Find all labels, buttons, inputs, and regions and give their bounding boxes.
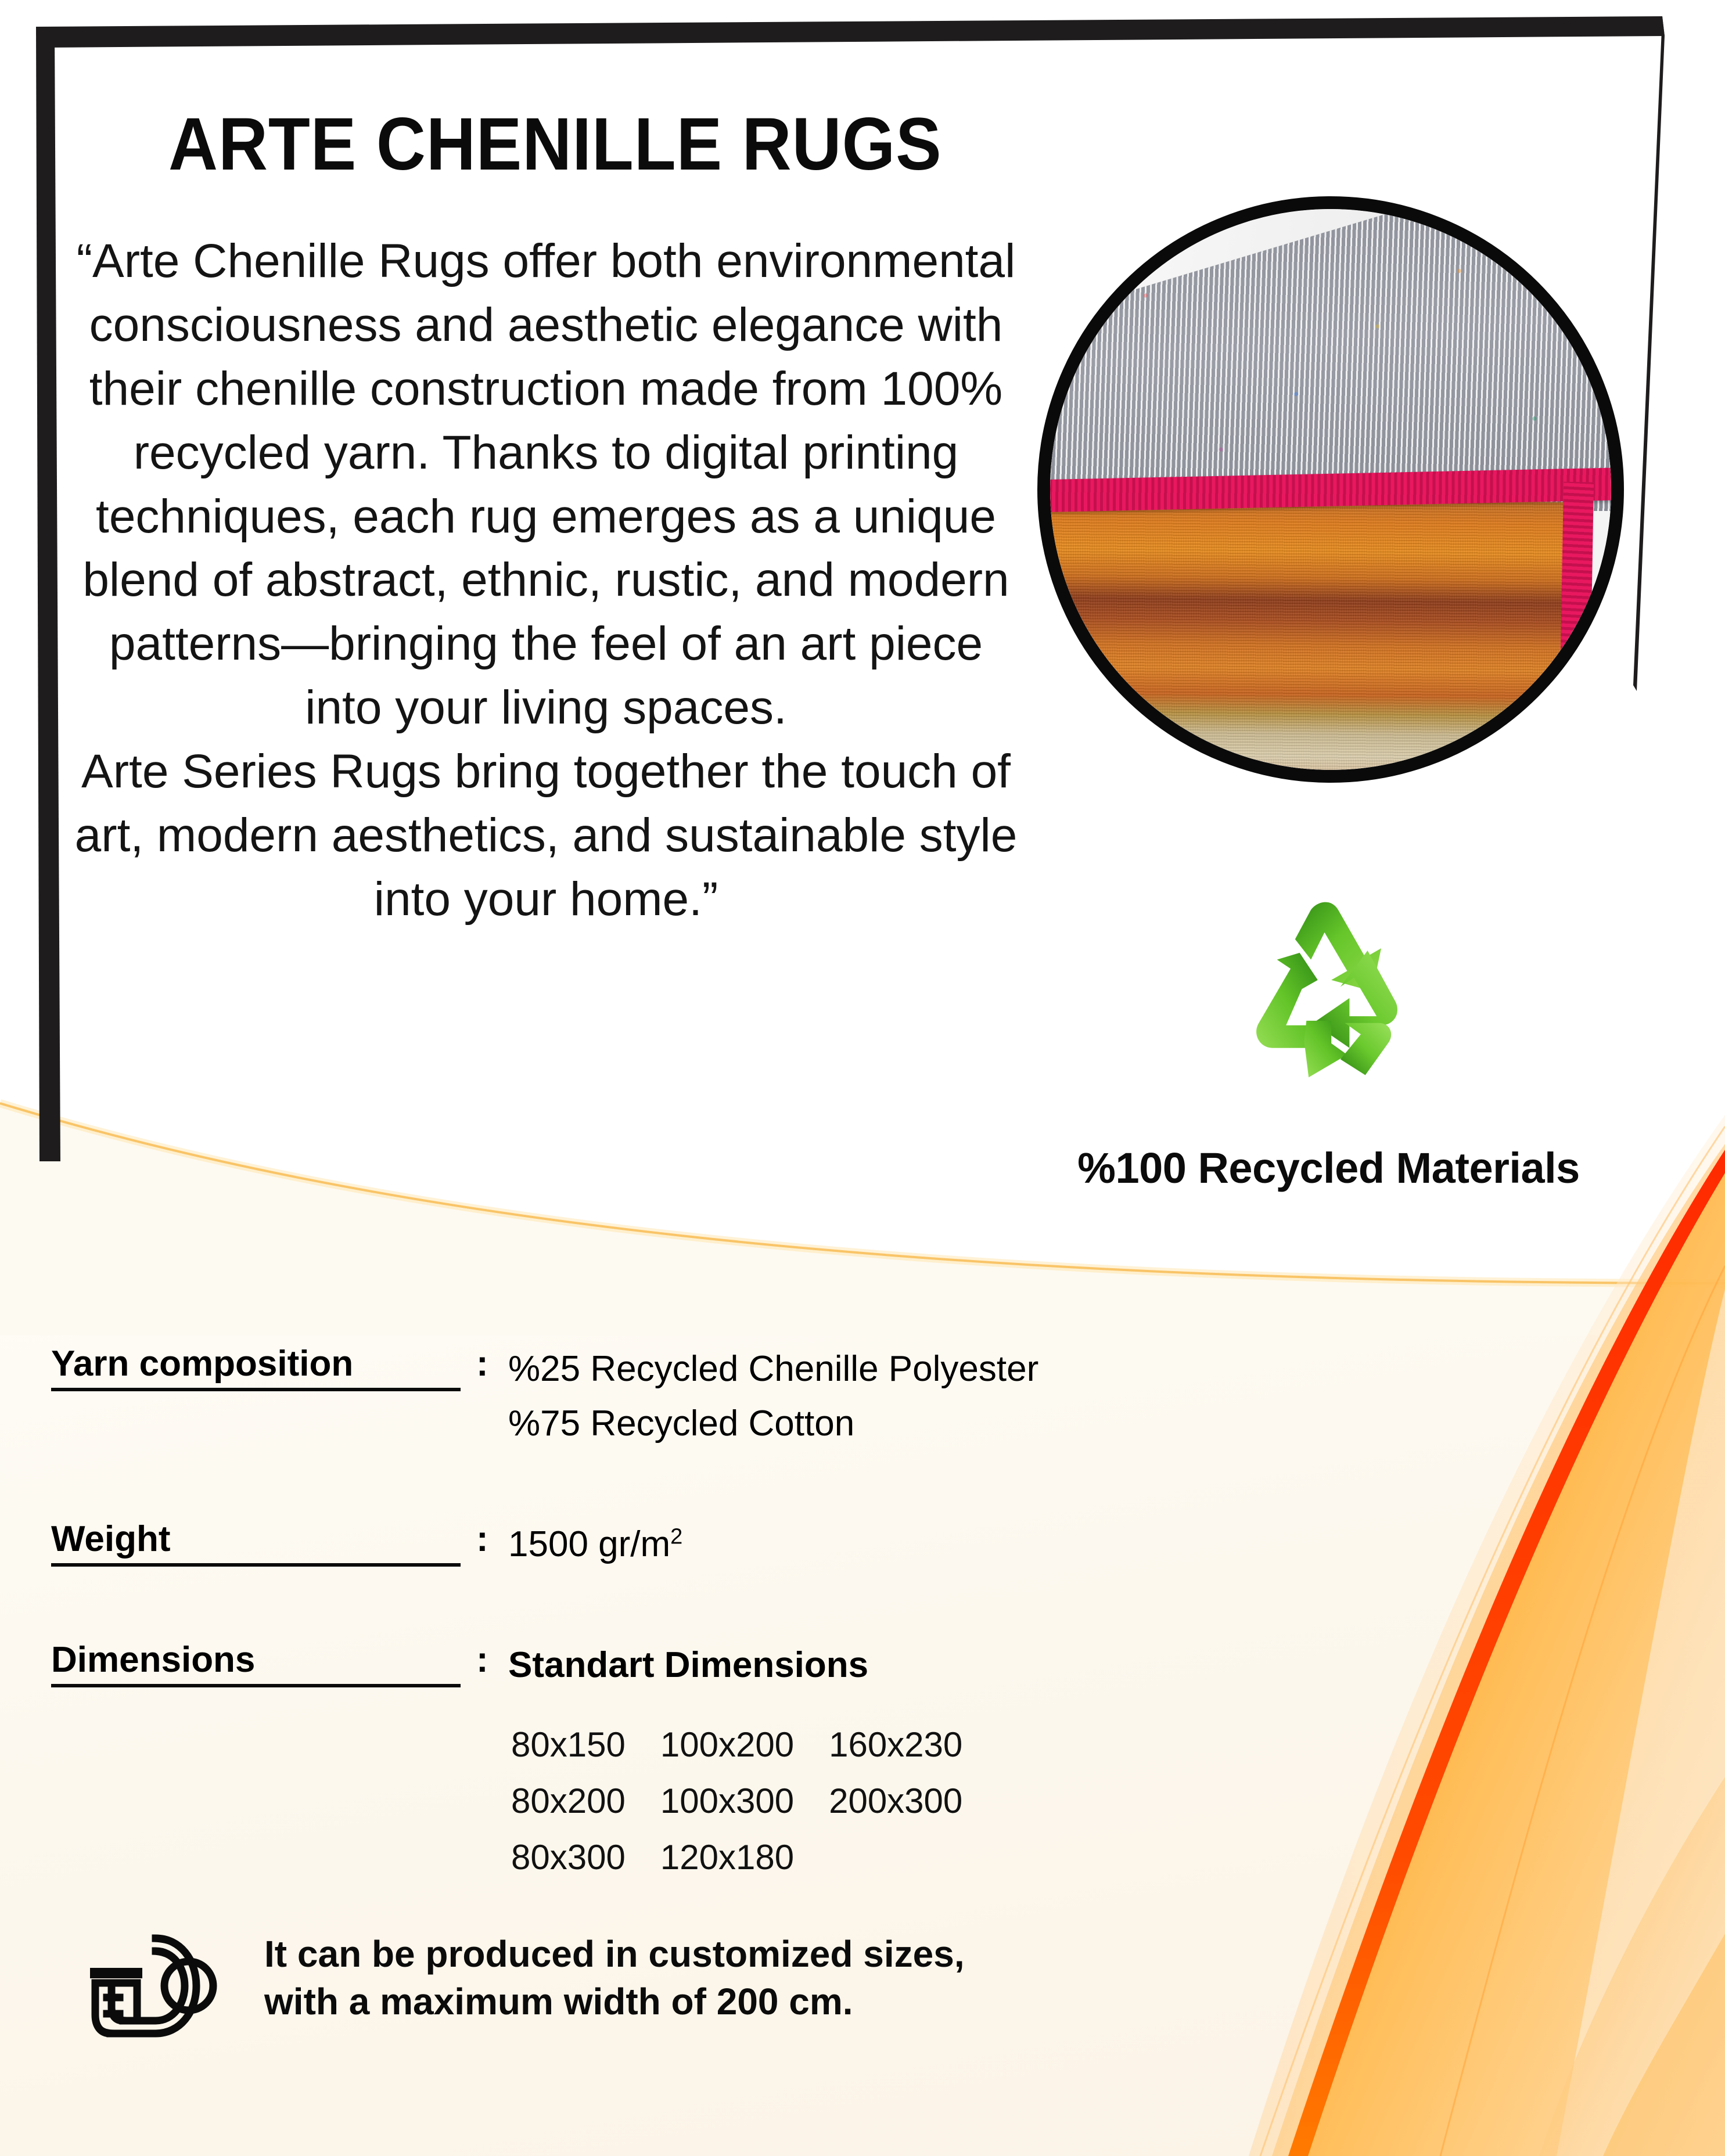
description-line: their chenille construction made from 10… — [55, 357, 1037, 421]
table-row: 80x300 120x180 — [511, 1834, 997, 1891]
weight-superscript: 2 — [670, 1524, 682, 1549]
spec-value-dimensions: Standart Dimensions — [508, 1642, 868, 1688]
table-row: 80x200 100x300 200x300 — [511, 1778, 997, 1834]
product-description: “Arte Chenille Rugs offer both environme… — [55, 229, 1037, 931]
description-line: techniques, each rug emerges as a unique — [55, 485, 1037, 549]
description-line: into your living spaces. — [55, 676, 1037, 740]
dimension-cell: 120x180 — [660, 1834, 829, 1891]
spec-value-yarn-2: %75 Recycled Cotton — [508, 1401, 854, 1446]
spec-label-yarn-composition: Yarn composition — [51, 1346, 461, 1391]
spec-colon-dimensions: : — [476, 1642, 488, 1678]
spec-label-dimensions: Dimensions — [51, 1642, 461, 1687]
rug-printed-face — [1050, 496, 1569, 770]
description-line: recycled yarn. Thanks to digital printin… — [55, 421, 1037, 485]
recycle-icon — [1223, 883, 1449, 1109]
dimension-cell: 100x300 — [660, 1778, 829, 1834]
measuring-tape-icon — [87, 1928, 232, 2044]
recycled-materials-label: %100 Recycled Materials — [1043, 1147, 1615, 1190]
dimension-cell: 100x200 — [660, 1722, 829, 1778]
description-line: consciousness and aesthetic elegance wit… — [55, 293, 1037, 357]
custom-size-note-line: with a maximum width of 200 cm. — [264, 1978, 1205, 2026]
description-line: “Arte Chenille Rugs offer both environme… — [55, 229, 1037, 293]
dimension-cell: 80x300 — [511, 1834, 660, 1891]
spec-colon-yarn: : — [476, 1346, 488, 1382]
description-line: into your home.” — [55, 868, 1037, 931]
description-line: Arte Series Rugs bring together the touc… — [55, 740, 1037, 804]
dimension-cell: 200x300 — [829, 1778, 997, 1834]
rug-pink-binding-right — [1559, 482, 1594, 755]
product-photo — [1037, 196, 1624, 783]
page-title: ARTE CHENILLE RUGS — [168, 107, 942, 182]
dimensions-grid: 80x150 100x200 160x230 80x200 100x300 20… — [511, 1722, 997, 1891]
description-line: art, modern aesthetics, and sustainable … — [55, 804, 1037, 868]
custom-size-note: It can be produced in customized sizes, … — [264, 1931, 1205, 2026]
dimension-cell: 80x150 — [511, 1722, 660, 1778]
description-line: patterns—bringing the feel of an art pie… — [55, 612, 1037, 676]
table-row: 80x150 100x200 160x230 — [511, 1722, 997, 1778]
spec-value-yarn-1: %25 Recycled Chenille Polyester — [508, 1346, 1038, 1392]
spec-colon-weight: : — [476, 1521, 488, 1557]
description-line: blend of abstract, ethnic, rustic, and m… — [55, 548, 1037, 612]
dimension-cell: 80x200 — [511, 1778, 660, 1834]
dimension-cell — [829, 1834, 997, 1891]
product-photo-inner — [1050, 209, 1611, 770]
spec-value-weight: 1500 gr/m2 — [508, 1521, 682, 1567]
dimension-cell: 160x230 — [829, 1722, 997, 1778]
spec-label-weight: Weight — [51, 1521, 461, 1567]
poster-page: ARTE CHENILLE RUGS “Arte Chenille Rugs o… — [0, 0, 1725, 2156]
weight-number: 1500 gr/m — [508, 1524, 670, 1564]
custom-size-note-line: It can be produced in customized sizes, — [264, 1931, 1205, 1978]
